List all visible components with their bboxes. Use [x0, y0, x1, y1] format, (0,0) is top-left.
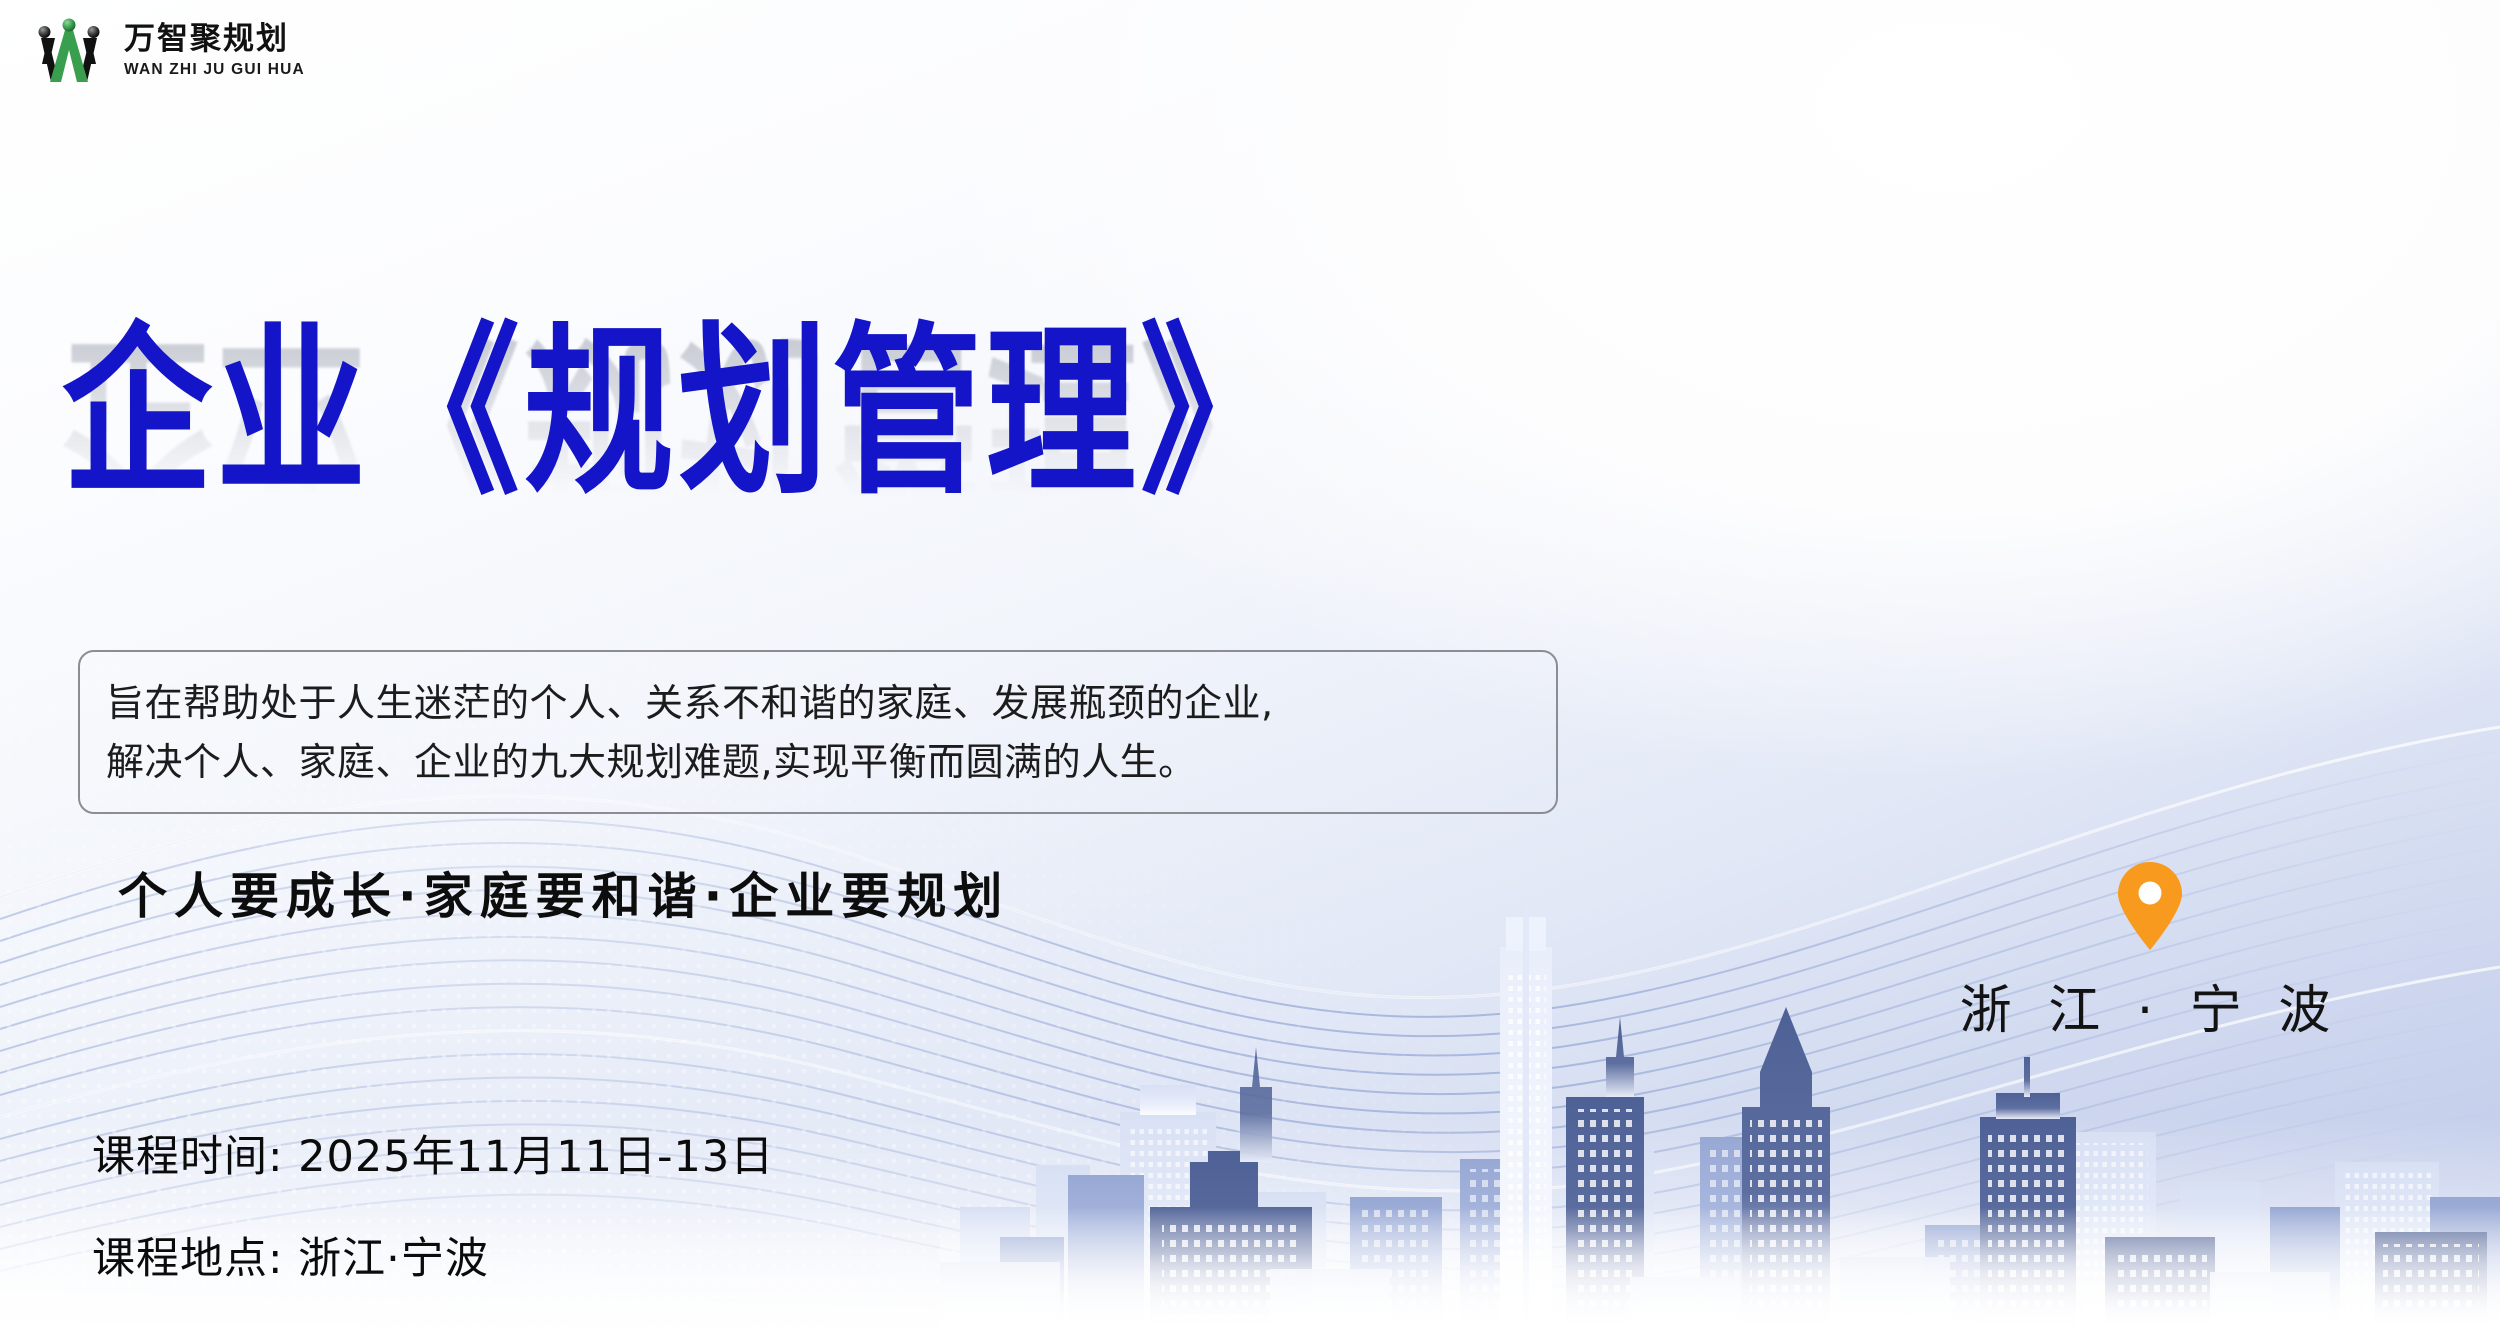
three-people-m-logo-icon [28, 16, 110, 86]
tagline: 个人要成长·家庭要和谐·企业要规划 [118, 857, 1009, 928]
hero-title-block: 企业《规划管理》 企业《规划管理》 [62, 322, 1662, 652]
map-pin-icon [2116, 862, 2184, 952]
course-time-row: 课程时间: 2025年11月11日-13日 [92, 1122, 774, 1184]
brand-text: 万智聚规划 WAN ZHI JU GUI HUA [124, 24, 305, 78]
promo-banner: 万智聚规划 WAN ZHI JU GUI HUA 企业《规划管理》 企业《规划管… [0, 0, 2500, 1327]
description-line-2: 解决个人、家庭、企业的九大规划难题,实现平衡而圆满的人生。 [106, 733, 1530, 792]
brand-logo: 万智聚规划 WAN ZHI JU GUI HUA [28, 16, 305, 86]
description-box: 旨在帮助处于人生迷茫的个人、关系不和谐的家庭、发展瓶颈的企业, 解决个人、家庭、… [78, 650, 1558, 814]
course-place-row: 课程地点: 浙江·宁波 [92, 1224, 774, 1286]
page-title: 企业《规划管理》 [62, 322, 1662, 505]
location-label: 浙 江 · 宁 波 [1940, 968, 2360, 1043]
course-info: 课程时间: 2025年11月11日-13日 课程地点: 浙江·宁波 [92, 1122, 774, 1286]
location-block: 浙 江 · 宁 波 [1940, 862, 2360, 1043]
brand-name-en: WAN ZHI JU GUI HUA [124, 62, 305, 78]
brand-name-cn: 万智聚规划 [124, 24, 305, 55]
description-line-1: 旨在帮助处于人生迷茫的个人、关系不和谐的家庭、发展瓶颈的企业, [106, 674, 1530, 733]
